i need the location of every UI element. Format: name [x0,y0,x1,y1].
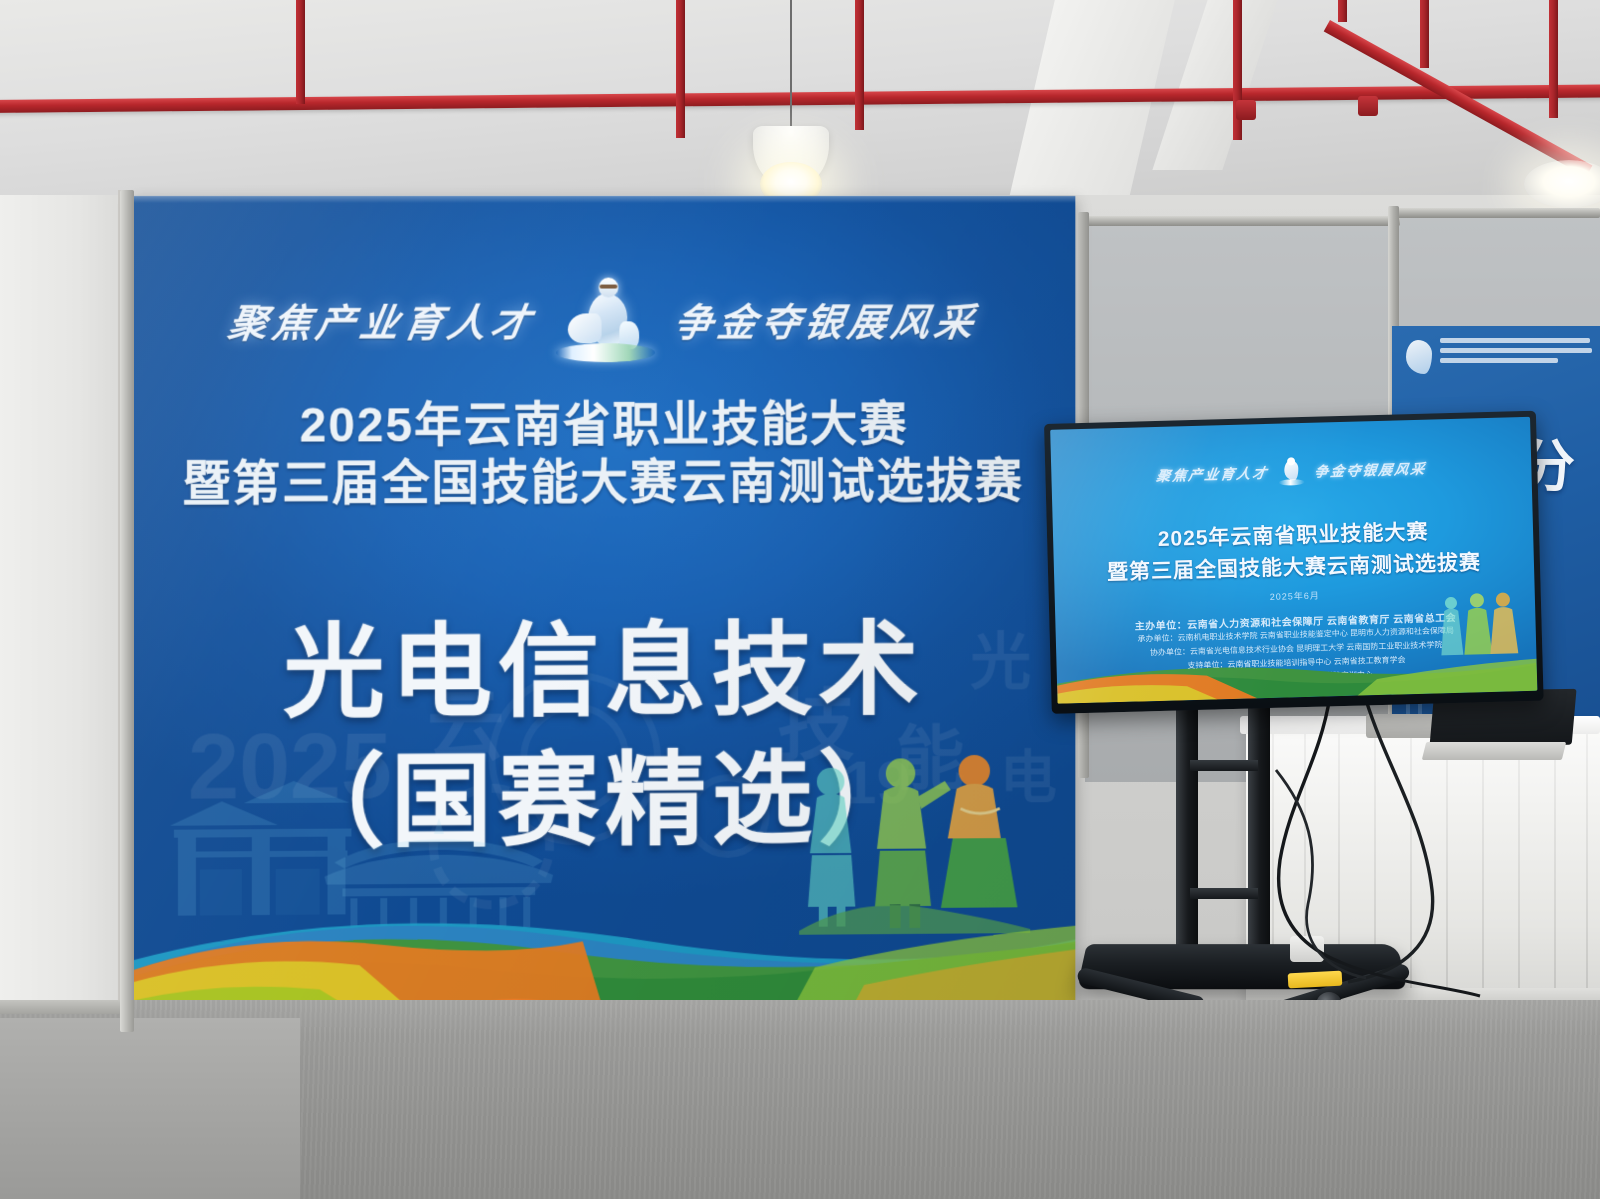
competition-torch-logo-icon [557,278,652,364]
sprinkler-joint-1 [1358,96,1378,116]
equipment-box [1366,714,1436,738]
booth-rail-top [1082,216,1400,226]
banner-title-line-2: 暨第三届全国技能大赛云南测试选拔赛 [130,442,1075,514]
tv-slogan-left: 聚焦产业育人才 [1155,463,1270,486]
tv-screen[interactable]: 聚焦产业育人才 争金夺银展风采 2025年云南省职业技能大赛 暨第三届全国技能大… [1050,417,1537,704]
competition-torch-logo-small-icon [1406,340,1432,374]
banner-slogan-row: 聚焦产业育人才 争金夺银展风采 [130,277,1075,364]
sprinkler-joint-2 [1236,100,1256,120]
scoring-banner-header-lines [1440,338,1592,368]
slogan-right: 争金夺银展风采 [670,292,982,348]
tv-slogan-right: 争金夺银展风采 [1313,459,1428,482]
yellow-cable-tape [1288,971,1343,989]
sprinkler-drop-1 [296,0,305,104]
slogan-left: 聚焦产业育人才 [225,293,540,349]
competition-torch-logo-tv-icon [1278,457,1305,488]
sprinkler-drop-7 [1549,0,1558,118]
sprinkler-drop-5 [1338,0,1347,22]
booth-rail-top-right [1396,208,1600,218]
cart-crossbar-upper [1190,760,1258,771]
banner-headline-line-1: 光电信息技术 [130,588,1075,739]
left-wall [0,195,130,1040]
sprinkler-drop-6 [1420,0,1429,68]
cart-crossbar-lower [1190,888,1258,899]
sprinkler-drop-3 [855,0,864,130]
sprinkler-drop-2 [676,0,685,138]
floor-left-area [0,1018,300,1199]
pendant-lamp-cord [790,0,792,128]
tv-slogan-row: 聚焦产业育人才 争金夺银展风采 [1051,451,1532,494]
laptop-keyboard [1422,742,1566,760]
banner-frame-post-left [120,190,134,1032]
main-backdrop-banner: 2025 云 技 能 光 19 电 聚焦产业育人才 争金夺银展风采 2025年云… [130,196,1075,1028]
cart-column-left [1176,700,1198,958]
power-adapter [1290,936,1324,962]
venue-photo: 评分 2025 云 技 能 光 19 电 聚焦产业育人才 [0,0,1600,1199]
wall-baseboard [0,1000,132,1014]
display-screen-assembly[interactable]: 聚焦产业育人才 争金夺银展风采 2025年云南省职业技能大赛 暨第三届全国技能大… [1044,411,1544,714]
cart-column-right [1248,700,1270,958]
